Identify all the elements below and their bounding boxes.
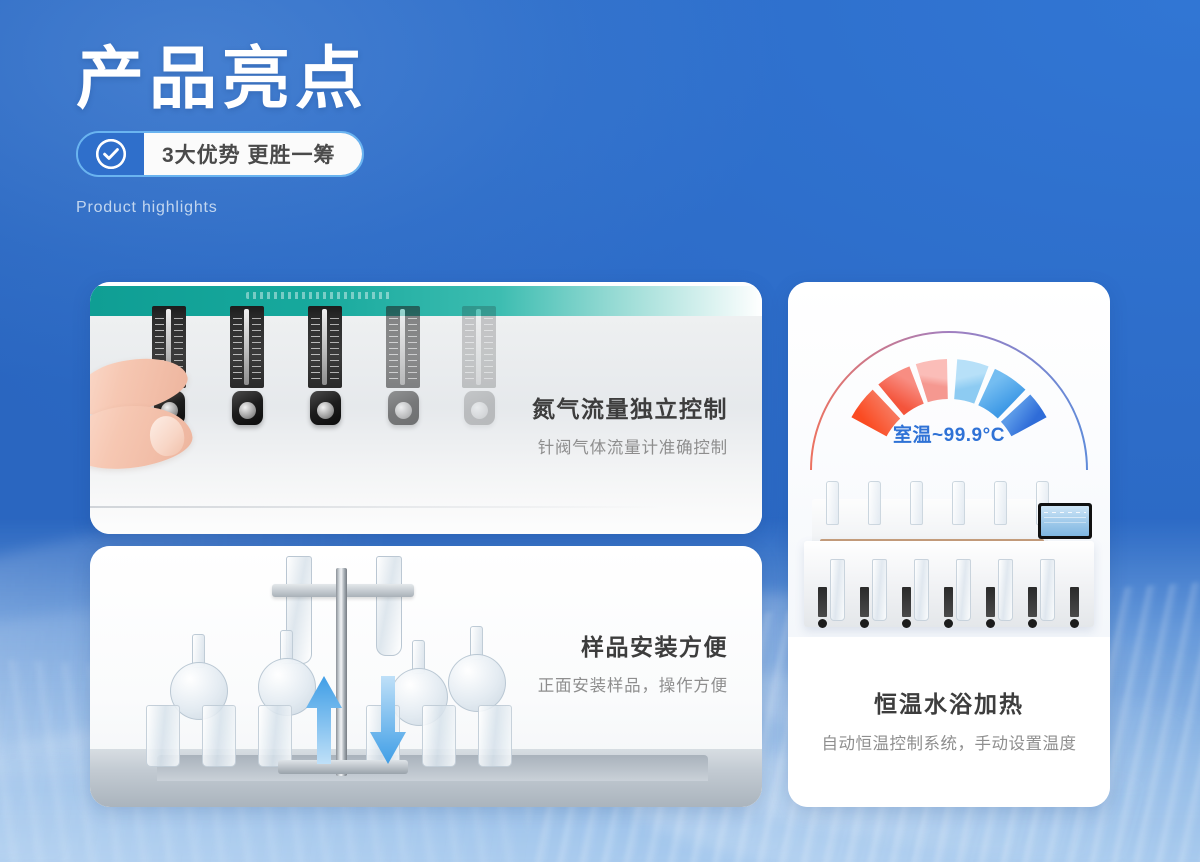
card-nitrogen-flow-text: 氮气流量独立控制 针阀气体流量计准确控制: [532, 390, 728, 458]
front-flowmeter: [902, 587, 911, 617]
sample-vial: [998, 559, 1013, 621]
front-flowmeter: [1070, 587, 1079, 617]
water-bath-visual: 室温~99.9°C: [788, 282, 1110, 637]
badge-label: 3大优势 更胜一筹: [144, 133, 362, 175]
front-flowmeter: [986, 587, 995, 617]
page-subtitle-en: Product highlights: [76, 199, 368, 217]
card-water-bath[interactable]: 室温~99.9°C: [788, 282, 1110, 807]
card-sample-install-text: 样品安装方便 正面安装样品，操作方便: [538, 628, 728, 696]
top-flask: [826, 481, 839, 525]
sample-vial: [956, 559, 971, 621]
card-subheading: 针阀气体流量计准确控制: [532, 434, 728, 458]
card-sample-install[interactable]: 样品安装方便 正面安装样品，操作方便: [90, 546, 762, 807]
front-flowmeter: [944, 587, 953, 617]
top-flask: [952, 481, 965, 525]
touchscreen-content: [1041, 506, 1089, 536]
hand-adjusting-knob: [90, 358, 222, 528]
top-flask: [910, 481, 923, 525]
card-heading: 恒温水浴加热: [874, 685, 1024, 719]
left-column: 氮气流量独立控制 针阀气体流量计准确控制: [90, 282, 762, 807]
sample-vessel: [422, 705, 456, 767]
flowmeter-5: [462, 306, 496, 425]
sample-vessel: [202, 705, 236, 767]
condenser-tube: [376, 556, 402, 656]
sample-vessel: [146, 705, 180, 767]
sample-vial: [830, 559, 845, 621]
round-bottom-flask: [448, 654, 506, 712]
touchscreen-display[interactable]: [1038, 503, 1092, 539]
sample-vessel: [478, 705, 512, 767]
badge-icon-area: [78, 133, 144, 175]
flowmeter-2: [230, 306, 264, 425]
page-title: 产品亮点: [76, 44, 368, 115]
arrow-down-icon: [368, 674, 408, 771]
card-subheading: 自动恒温控制系统，手动设置温度: [822, 730, 1077, 754]
sample-vial: [914, 559, 929, 621]
top-flask: [994, 481, 1007, 525]
top-flask: [868, 481, 881, 525]
right-column: 室温~99.9°C: [788, 282, 1110, 807]
sample-vial: [1040, 559, 1055, 621]
card-heading: 氮气流量独立控制: [532, 390, 728, 424]
flowmeter-3: [308, 306, 342, 425]
highlight-card-grid: 氮气流量独立控制 针阀气体流量计准确控制: [90, 282, 1110, 807]
card-nitrogen-flow[interactable]: 氮气流量独立控制 针阀气体流量计准确控制: [90, 282, 762, 534]
check-circle-icon: [96, 139, 126, 169]
front-flowmeter: [818, 587, 827, 617]
front-flowmeter: [860, 587, 869, 617]
distillation-instrument: [798, 453, 1100, 637]
card-water-bath-text: 恒温水浴加热 自动恒温控制系统，手动设置温度: [788, 637, 1110, 807]
sample-vessel: [258, 705, 292, 767]
arrow-up-icon: [304, 674, 344, 771]
card-heading: 样品安装方便: [538, 628, 728, 662]
instrument-top-strip-fade: [500, 286, 762, 316]
gauge-temperature-label: 室温~99.9°C: [788, 420, 1110, 447]
advantages-badge: 3大优势 更胜一筹: [76, 131, 364, 177]
card-subheading: 正面安装样品，操作方便: [538, 672, 728, 696]
flowmeter-4: [386, 306, 420, 425]
sample-vial: [872, 559, 887, 621]
page-header: 产品亮点 3大优势 更胜一筹 Product highlights: [76, 44, 368, 217]
front-flowmeter: [1028, 587, 1037, 617]
